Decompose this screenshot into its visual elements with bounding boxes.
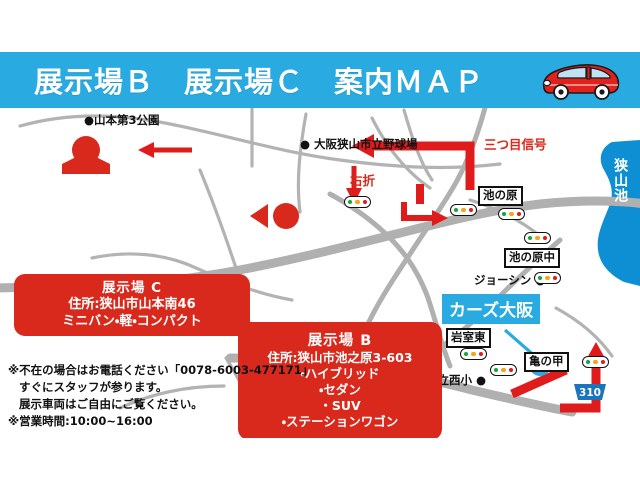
intersection-ikenohara: 池の原 [478, 186, 523, 206]
access-map-page: 展示場Ｂ 展示場Ｃ 案内ＭＡＰ [0, 0, 640, 480]
callout-site-b-item: ・SUV [319, 398, 360, 414]
dealer-name-tag: カーズ大阪 [442, 294, 540, 324]
label-sayama-pond: 狭山池 [612, 158, 627, 203]
intersection-kamenoko-line1: 亀の甲 [529, 355, 564, 368]
intersection-ikenohara-line1: 池の原 [483, 189, 518, 202]
footnote-line: ※不在の場合はお電話ください「0078-6003-477171」 [8, 362, 308, 379]
traffic-signal-ikenoharanaka-south [534, 272, 561, 284]
intersection-iwamurohigashi: 岩室東 [446, 328, 491, 348]
route-arrow-west [138, 142, 192, 158]
intersection-ikenoharanaka-line1: 池の原中 [509, 251, 555, 264]
callout-site-b-item: ・セダン [319, 382, 361, 398]
traffic-signal-west-ikenohara [450, 204, 477, 216]
footnote-line: ※営業時間:10:00~16:00 [8, 413, 308, 430]
footnote-line: 展示車両はご自由にご覧ください。 [8, 396, 308, 413]
label-yamamoto-park: ●山本第3公園 [84, 114, 160, 126]
footnote-line: すぐにスタッフが参ります。 [8, 379, 308, 396]
site-b-marker [273, 203, 299, 229]
intersection-iwamurohigashi-line1: 岩室東 [451, 331, 486, 344]
red-minivan-icon [534, 58, 626, 102]
callout-site-c-address: 住所:狭山市山本南46 [68, 297, 195, 314]
callout-site-c-lineup: ミニバン・軽・コンパクト [62, 314, 202, 331]
callout-site-c: 展示場 C 住所:狭山市山本南46 ミニバン・軽・コンパクト [14, 274, 250, 336]
svg-text:310: 310 [579, 387, 601, 399]
traffic-signal-nishi [490, 364, 517, 376]
route-shield-310: 310 [570, 380, 610, 402]
label-baseball-stadium: ● 大阪狭山市立野球場 [300, 138, 418, 150]
callout-site-b-title: 展示場 B [308, 332, 373, 351]
footnotes: ※不在の場合はお電話ください「0078-6003-477171」 すぐにスタッフ… [8, 362, 308, 430]
page-title: 展示場Ｂ 展示場Ｃ 案内ＭＡＰ [34, 59, 484, 101]
header-banner: 展示場Ｂ 展示場Ｃ 案内ＭＡＰ [0, 52, 640, 108]
callout-site-c-title: 展示場 C [102, 280, 162, 297]
traffic-signal-ikenoharanaka-north [524, 232, 551, 244]
traffic-signal-kamenoko [582, 356, 609, 368]
traffic-signal-ikenohara [498, 208, 525, 220]
label-third-signal: 三つ目信号 [484, 138, 547, 151]
label-turn-right: 右折 [350, 174, 375, 187]
traffic-signal-iwamurohigashi [460, 348, 487, 360]
traffic-signal-turn-right [344, 196, 371, 208]
intersection-ikenoharanaka: 池の原中 [504, 248, 560, 268]
route-pointer-site-b [250, 204, 268, 228]
intersection-kamenoko: 亀の甲 [524, 352, 569, 372]
